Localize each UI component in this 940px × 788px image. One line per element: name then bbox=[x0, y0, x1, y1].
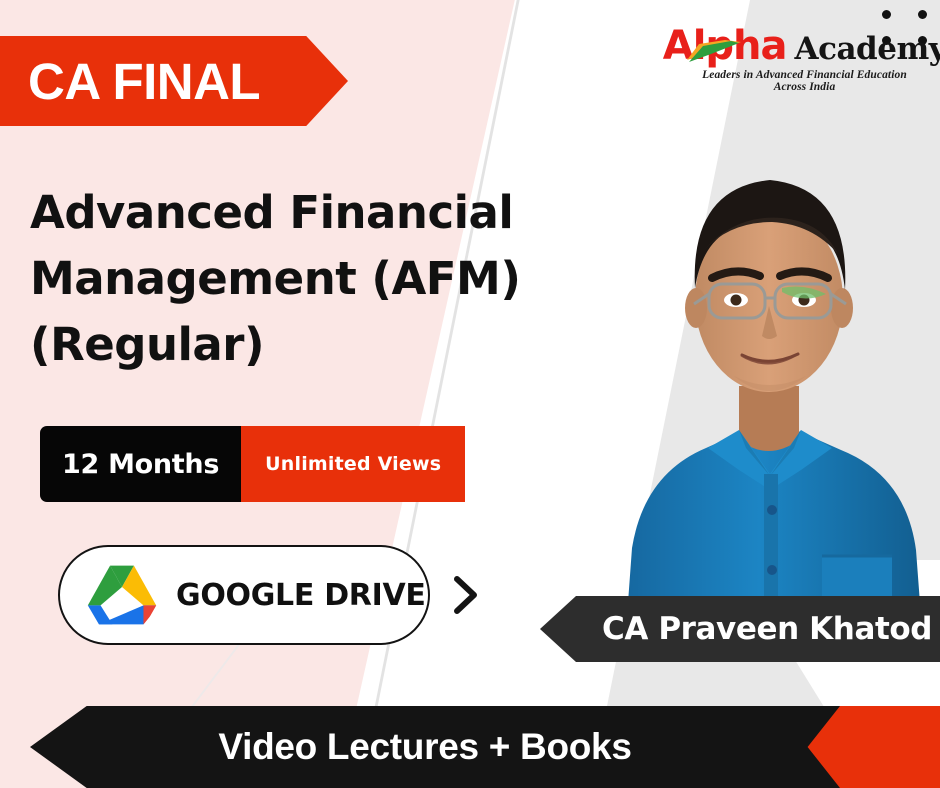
course-badges: 12 Months Unlimited Views bbox=[40, 426, 465, 502]
brand-logo: Alpha Academy Leaders in Advanced Financ… bbox=[687, 26, 922, 93]
instructor-name-banner: CA Praveen Khatod bbox=[540, 596, 940, 662]
brand-tagline: Leaders in Advanced Financial Education … bbox=[687, 69, 922, 93]
brand-logo-secondary: Academy bbox=[795, 34, 940, 65]
views-badge-label: Unlimited Views bbox=[265, 453, 441, 475]
brand-logo-wordmark: Alpha Academy bbox=[687, 26, 922, 66]
dot-icon bbox=[918, 10, 927, 19]
instructor-photo bbox=[596, 118, 940, 630]
footer-label: Video Lectures + Books bbox=[218, 726, 631, 768]
google-drive-button[interactable]: GOOGLE DRIVE bbox=[58, 545, 430, 645]
instructor-name-label: CA Praveen Khatod bbox=[540, 611, 932, 647]
course-level-ribbon: CA FINAL bbox=[0, 36, 348, 126]
footer-banner: Video Lectures + Books bbox=[30, 706, 840, 788]
google-drive-icon bbox=[86, 564, 158, 626]
duration-badge: 12 Months bbox=[40, 426, 241, 502]
brand-logo-primary: Alpha bbox=[663, 26, 787, 66]
chevron-right-icon[interactable] bbox=[450, 574, 480, 616]
dot-icon bbox=[882, 10, 891, 19]
course-title: Advanced Financial Management (AFM) (Reg… bbox=[30, 180, 570, 378]
views-badge: Unlimited Views bbox=[241, 426, 465, 502]
course-level-label: CA FINAL bbox=[0, 56, 260, 107]
google-drive-label: GOOGLE DRIVE bbox=[176, 578, 426, 613]
course-poster: CA FINAL Alpha Academy Leaders in Advanc… bbox=[0, 0, 940, 788]
duration-badge-label: 12 Months bbox=[62, 449, 219, 480]
